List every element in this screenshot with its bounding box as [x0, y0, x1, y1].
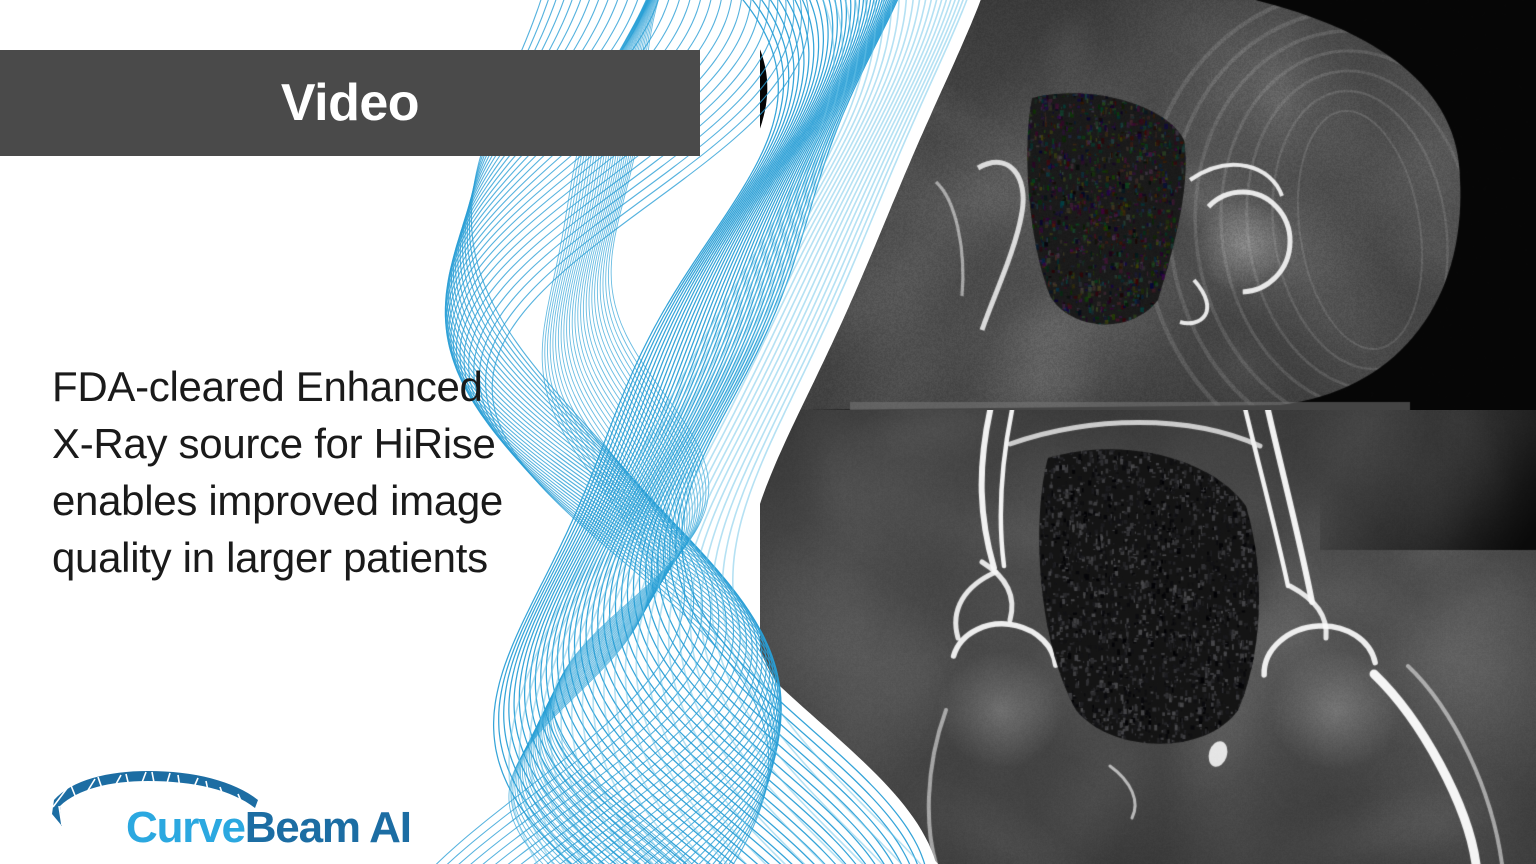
ct-scan-comparison-panel — [760, 0, 1536, 864]
headline-line-3: enables improved image — [52, 472, 572, 529]
headline-line-4: quality in larger patients — [52, 529, 572, 586]
video-banner-label: Video — [281, 77, 419, 129]
ct-scan-enhanced-quality — [760, 410, 1536, 864]
headline-line-1: FDA-cleared Enhanced — [52, 358, 572, 415]
ct-scan-standard-quality — [760, 0, 1536, 410]
logo-word-beam-ai: Beam AI — [245, 803, 411, 852]
curvebeam-ai-logo: CurveBeam AI — [48, 770, 378, 856]
logo-wordmark: CurveBeam AI — [126, 806, 411, 850]
slide-canvas: Video FDA-cleared Enhanced X-Ray source … — [0, 0, 1536, 864]
page-title: FDA-cleared Enhanced X-Ray source for Hi… — [52, 358, 572, 586]
headline-line-2: X-Ray source for HiRise — [52, 415, 572, 472]
logo-word-curve: Curve — [126, 803, 245, 852]
video-banner: Video — [0, 50, 700, 156]
